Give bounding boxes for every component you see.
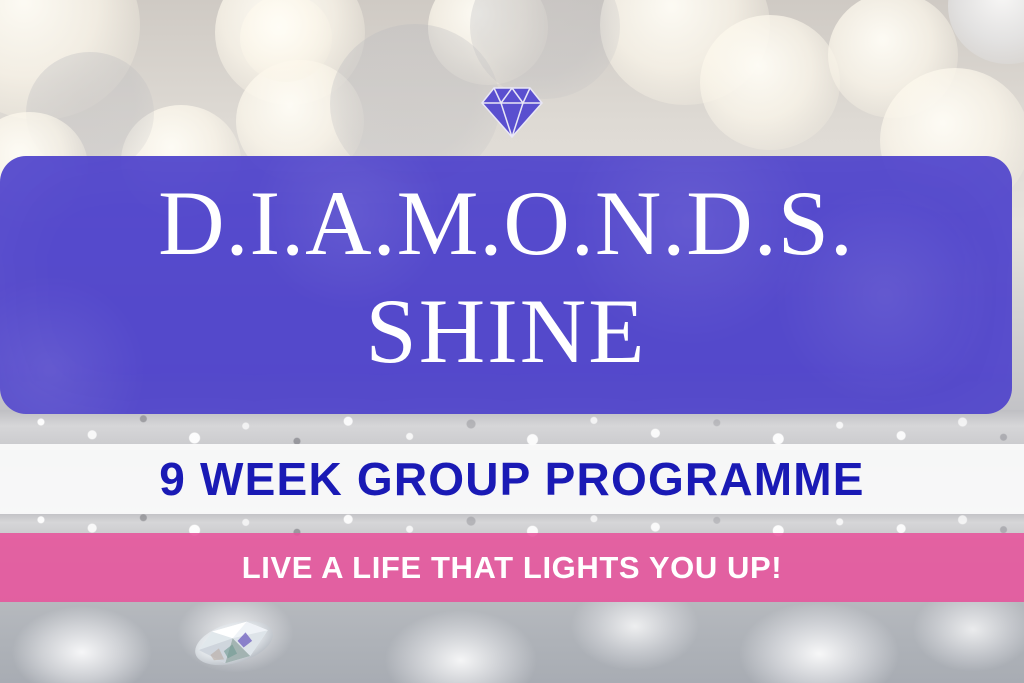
bottom-background bbox=[0, 602, 1024, 683]
tagline-band: LIVE A LIFE THAT LIGHTS YOU UP! bbox=[0, 533, 1024, 602]
headline-text: 9 WEEK GROUP PROGRAMME bbox=[159, 452, 864, 506]
diamond-icon bbox=[481, 84, 543, 138]
headline-band: 9 WEEK GROUP PROGRAMME bbox=[0, 444, 1024, 514]
tagline-text: LIVE A LIFE THAT LIGHTS YOU UP! bbox=[242, 550, 782, 586]
hero-title-line1: D.I.A.M.O.N.D.S. bbox=[0, 170, 1012, 276]
poster-canvas: D.I.A.M.O.N.D.S. SHINE 9 WEEK GROUP PROG… bbox=[0, 0, 1024, 683]
hero-title-line2: SHINE bbox=[0, 278, 1012, 384]
hero-panel: D.I.A.M.O.N.D.S. SHINE bbox=[0, 156, 1012, 414]
